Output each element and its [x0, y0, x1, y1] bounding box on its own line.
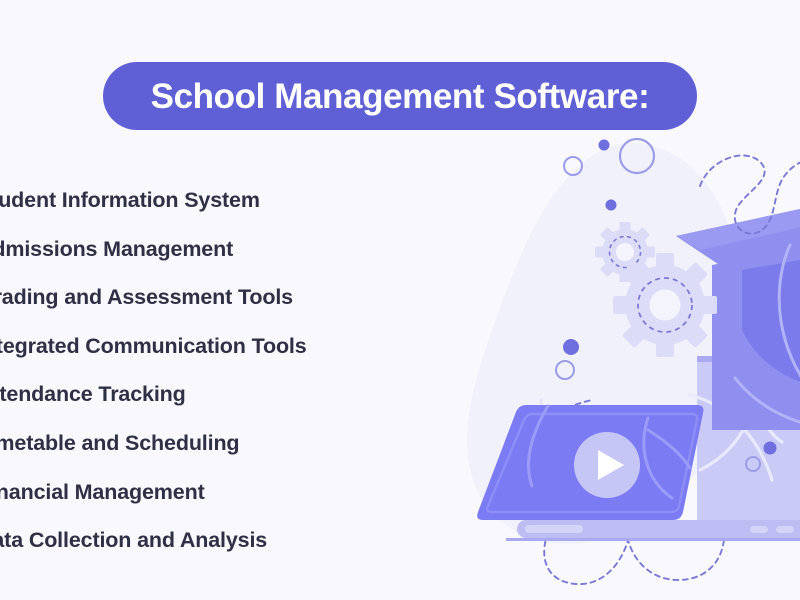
gear-icon-large — [613, 253, 717, 357]
laptop-icon — [477, 405, 800, 541]
list-item: Timetable and Scheduling — [0, 419, 407, 468]
list-item: Student Information System — [0, 176, 407, 225]
play-button-icon — [574, 432, 640, 498]
decorative-circle-outline — [746, 457, 760, 471]
right-panel — [690, 356, 800, 538]
feature-list: Student Information System Admissions Ma… — [0, 176, 407, 565]
slide-canvas: School Management Software: Student Info… — [0, 0, 800, 600]
list-item: Admissions Management — [0, 225, 407, 274]
title-banner: School Management Software: — [103, 62, 697, 130]
decorative-circles — [556, 139, 654, 379]
decorative-dot — [764, 442, 777, 455]
background-blob — [467, 143, 744, 544]
list-item: Grading and Assessment Tools — [0, 273, 407, 322]
graduation-cap-icon — [676, 196, 800, 430]
page-title: School Management Software: — [151, 79, 650, 114]
list-item: Integrated Communication Tools — [0, 322, 407, 371]
gear-icon-small — [595, 222, 655, 282]
list-item: Financial Management — [0, 468, 407, 517]
dashed-curves — [506, 155, 800, 584]
list-item: Attendance Tracking — [0, 370, 407, 419]
list-item: Data Collection and Analysis — [0, 516, 407, 565]
blob-swooshes — [541, 400, 646, 536]
